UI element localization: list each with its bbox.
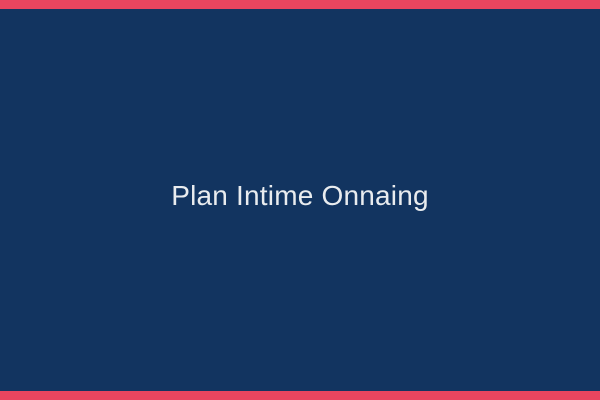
placeholder-body: Plan Intime Onnaing: [0, 9, 600, 391]
placeholder-canvas: Plan Intime Onnaing: [0, 0, 600, 400]
placeholder-caption: Plan Intime Onnaing: [171, 181, 429, 212]
bottom-accent-bar: [0, 391, 600, 400]
top-accent-bar: [0, 0, 600, 9]
